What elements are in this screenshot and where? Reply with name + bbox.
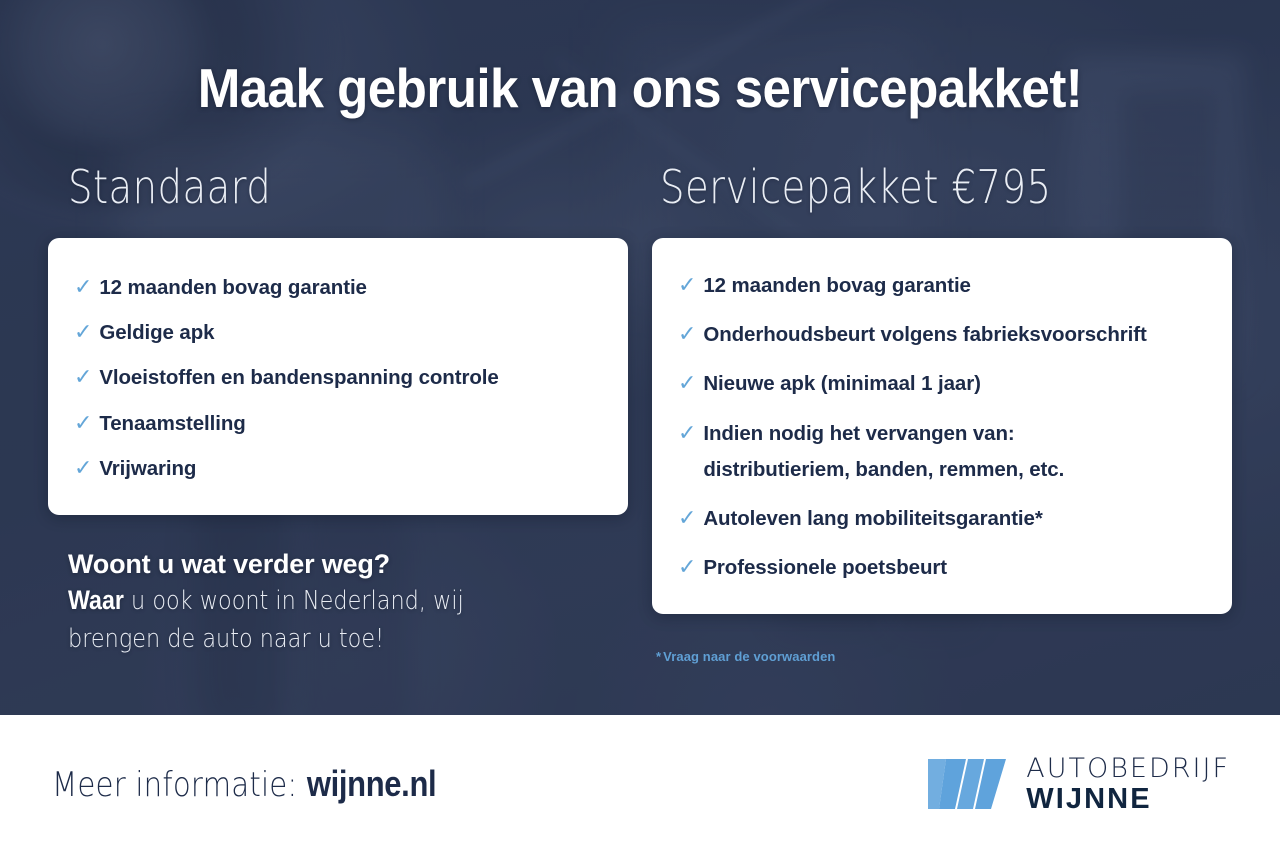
check-icon: ✓	[74, 322, 92, 344]
feature-label: Indien nodig het vervangen van:	[703, 422, 1064, 446]
feature-label: Tenaamstelling	[99, 412, 245, 436]
page-title: Maak gebruik van ons servicepakket!	[45, 60, 1235, 118]
feature-sublabel: distributieriem, banden, remmen, etc.	[703, 458, 1064, 482]
list-item: ✓ Indien nodig het vervangen van: distri…	[678, 422, 1206, 482]
feature-label: 12 maanden bovag garantie	[99, 276, 367, 300]
wijnne-w-logo-icon	[926, 757, 1010, 811]
delivery-note-title: Woont u wat verder weg?	[68, 548, 628, 581]
asterisk-icon: *	[656, 649, 661, 664]
feature-label: Onderhoudsbeurt volgens fabrieksvoorschr…	[703, 323, 1146, 347]
list-item: ✓ Geldige apk	[74, 321, 602, 345]
check-icon: ✓	[74, 277, 92, 299]
list-item: ✓ Autoleven lang mobiliteitsgarantie*	[678, 507, 1206, 531]
feature-list-servicepakket: ✓ 12 maanden bovag garantie ✓ Onderhouds…	[678, 274, 1206, 580]
feature-label: Geldige apk	[99, 321, 214, 345]
list-item: ✓ Vloeistoffen en bandenspanning control…	[74, 366, 602, 390]
feature-label: Vrijwaring	[99, 457, 196, 481]
delivery-note: Woont u wat verder weg? Waar u ook woont…	[68, 548, 628, 658]
check-icon: ✓	[678, 373, 696, 395]
list-item: ✓ 12 maanden bovag garantie	[74, 276, 602, 300]
check-icon: ✓	[678, 324, 696, 346]
card-servicepakket: ✓ 12 maanden bovag garantie ✓ Onderhouds…	[652, 238, 1232, 614]
check-icon: ✓	[74, 458, 92, 480]
footer-website[interactable]: wijnne.nl	[307, 763, 436, 804]
feature-label: Nieuwe apk (minimaal 1 jaar)	[703, 372, 980, 396]
brand-name-top: AUTOBEDRIJF	[1026, 755, 1230, 782]
list-item: ✓ Professionele poetsbeurt	[678, 556, 1206, 580]
list-item: ✓ Nieuwe apk (minimaal 1 jaar)	[678, 372, 1206, 396]
check-icon: ✓	[74, 367, 92, 389]
card-standaard: ✓ 12 maanden bovag garantie ✓ Geldige ap…	[48, 238, 628, 515]
check-icon: ✓	[74, 413, 92, 435]
check-icon: ✓	[678, 275, 696, 297]
service-package-poster: Maak gebruik van ons servicepakket! Stan…	[0, 0, 1280, 853]
check-icon: ✓	[678, 557, 696, 579]
terms-footnote: *Vraag naar de voorwaarden	[656, 649, 835, 664]
check-icon: ✓	[678, 423, 696, 445]
feature-label: 12 maanden bovag garantie	[703, 274, 971, 298]
list-item: ✓ Onderhoudsbeurt volgens fabrieksvoorsc…	[678, 323, 1206, 347]
feature-label: Autoleven lang mobiliteitsgarantie*	[703, 507, 1042, 531]
feature-list-standaard: ✓ 12 maanden bovag garantie ✓ Geldige ap…	[74, 276, 602, 481]
brand-wordmark: AUTOBEDRIJF WIJNNE	[1026, 755, 1230, 814]
delivery-note-line-one: u ook woont in Nederland, wij	[124, 586, 464, 616]
list-item: ✓ 12 maanden bovag garantie	[678, 274, 1206, 298]
list-item: ✓ Vrijwaring	[74, 457, 602, 481]
feature-label-group: Indien nodig het vervangen van: distribu…	[703, 422, 1064, 482]
footer-cta-prefix: Meer informatie:	[52, 765, 307, 805]
footer-cta: Meer informatie: wijnne.nl	[52, 763, 436, 805]
terms-footnote-text: Vraag naar de voorwaarden	[663, 649, 835, 664]
brand-name-bottom: WIJNNE	[1026, 785, 1230, 814]
check-icon: ✓	[678, 508, 696, 530]
list-item: ✓ Tenaamstelling	[74, 412, 602, 436]
column-title-standaard: Standaard	[68, 160, 271, 214]
feature-label: Professionele poetsbeurt	[703, 556, 947, 580]
delivery-note-emphasis: Waar	[68, 585, 124, 615]
feature-label: Vloeistoffen en bandenspanning controle	[99, 366, 498, 390]
column-title-servicepakket: Servicepakket €795	[660, 160, 1051, 214]
delivery-note-line-two: brengen de auto naar u toe!	[68, 624, 384, 654]
brand-lockup: AUTOBEDRIJF WIJNNE	[926, 755, 1230, 814]
delivery-note-body: Waar u ook woont in Nederland, wij breng…	[68, 581, 550, 658]
footer-bar: Meer informatie: wijnne.nl AUTOBEDRIJF W…	[0, 715, 1280, 853]
